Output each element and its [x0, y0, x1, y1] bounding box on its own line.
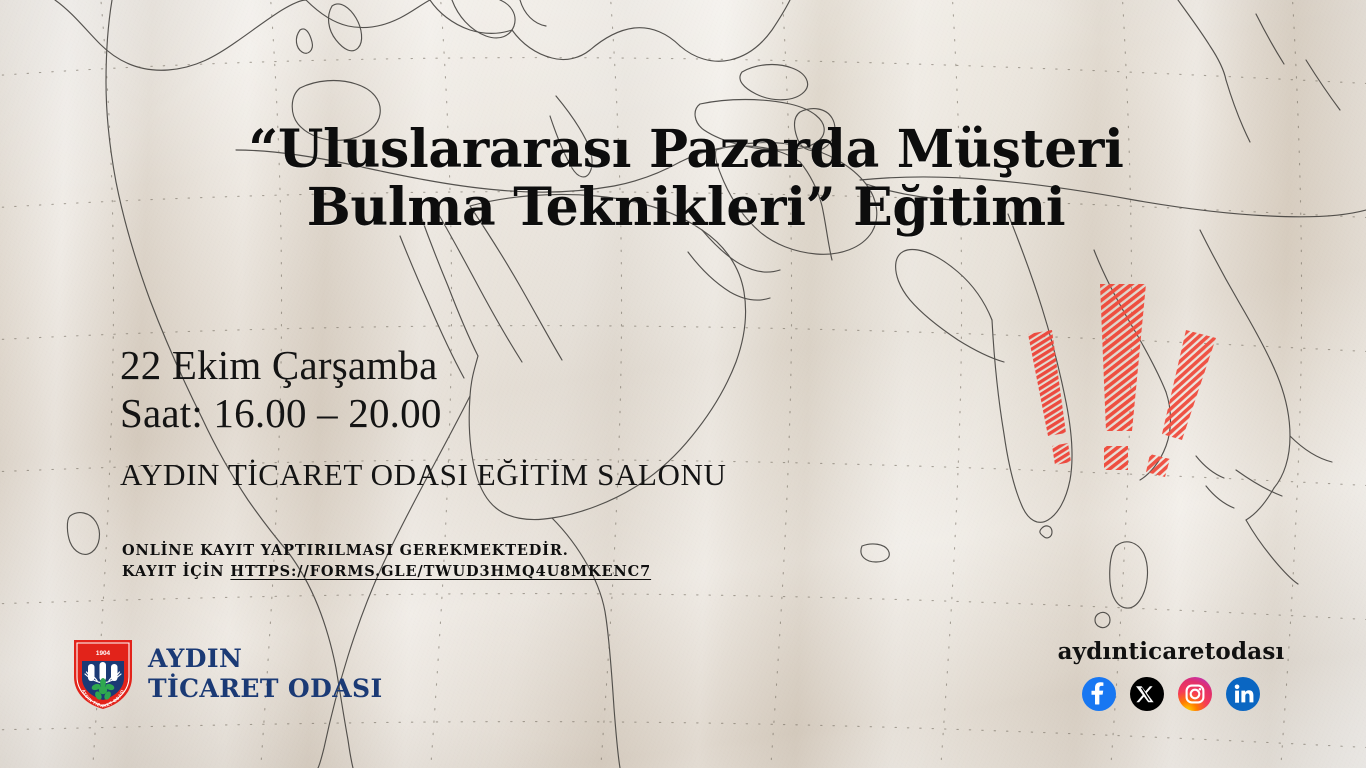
- chamber-shield-icon: 1904 AYDIN TİCARET ODASI: [72, 637, 134, 711]
- poster-title-line-1: “Uluslararası Pazarda Müşteri: [248, 119, 1123, 180]
- linkedin-icon[interactable]: [1226, 677, 1260, 711]
- chamber-logo-line-2: TİCARET ODASI: [148, 674, 383, 705]
- social-handle: aydınticaretodası: [1046, 638, 1296, 665]
- chamber-logo-line-1: AYDIN: [148, 644, 383, 675]
- event-venue: AYDIN TİCARET ODASI EĞİTİM SALONU: [120, 457, 727, 493]
- exclamation-right: [1146, 330, 1216, 477]
- exclamation-left: [1028, 330, 1071, 465]
- instagram-icon[interactable]: [1178, 677, 1212, 711]
- registration-notice: ONLİNE KAYIT YAPTIRILMASI GEREKMEKTEDİR.: [122, 540, 651, 561]
- registration-url[interactable]: HTTPS://FORMS.GLE/TWUD3HMQ4U8MKENC7: [230, 561, 651, 582]
- event-date: 22 Ekim Çarşamba: [120, 342, 727, 390]
- chamber-logo-wordmark: AYDIN TİCARET ODASI: [148, 644, 383, 705]
- social-media-block: aydınticaretodası: [1046, 638, 1296, 711]
- poster-canvas: “Uluslararası Pazarda Müşteri Bulma Tekn…: [0, 0, 1366, 768]
- event-time: Saat: 16.00 – 20.00: [120, 390, 727, 438]
- poster-title-line-2: Bulma Teknikleri” Eğitimi: [6, 179, 1366, 237]
- shield-year: 1904: [96, 650, 111, 657]
- registration-info: ONLİNE KAYIT YAPTIRILMASI GEREKMEKTEDİR.…: [122, 540, 651, 582]
- facebook-icon[interactable]: [1082, 677, 1116, 711]
- social-icon-row: [1046, 677, 1296, 711]
- exclamation-center: [1100, 284, 1146, 470]
- aydin-chamber-logo: 1904 AYDIN TİCARET ODASI AYDIN TİCARET O…: [72, 637, 383, 711]
- registration-link-line: KAYIT İÇİN HTTPS://FORMS.GLE/TWUD3HMQ4U8…: [122, 561, 651, 582]
- poster-title: “Uluslararası Pazarda Müşteri Bulma Tekn…: [0, 121, 1366, 237]
- registration-link-prefix: KAYIT İÇİN: [122, 561, 224, 582]
- exclamation-marks-decoration: [1010, 278, 1260, 493]
- x-twitter-icon[interactable]: [1130, 677, 1164, 711]
- event-details: 22 Ekim Çarşamba Saat: 16.00 – 20.00 AYD…: [120, 342, 727, 493]
